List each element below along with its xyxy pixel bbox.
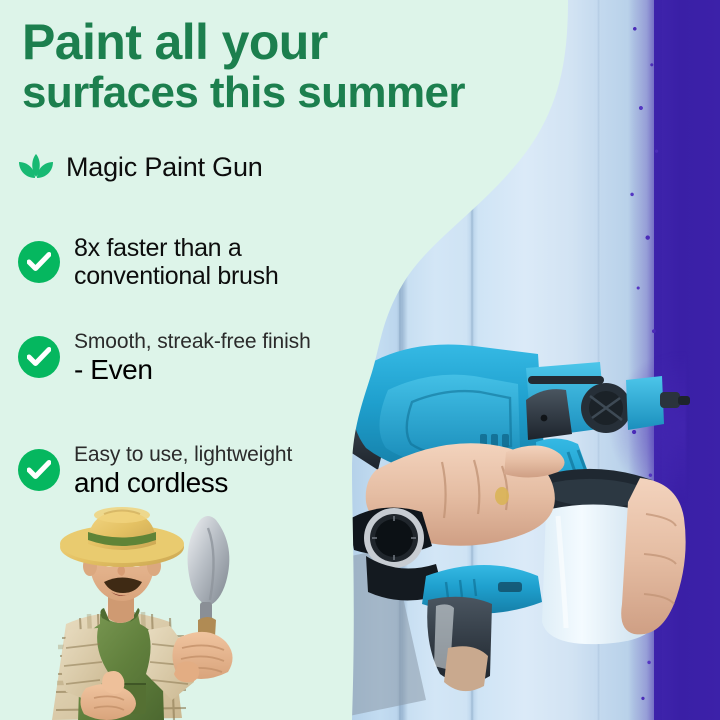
advertisement-canvas: Paint all your surfaces this summer Magi… [0,0,720,720]
feature-2-line-2: - Even [74,354,311,385]
feature-3-line-2: and cordless [74,467,292,498]
feature-3-line-1: Easy to use, lightweight [74,443,292,467]
feature-item-1: 8x faster than a conventional brush [18,234,278,290]
leaf-icon [18,153,54,183]
feature-item-3: Easy to use, lightweight and cordless [18,443,292,498]
page-title: Paint all your surfaces this summer [22,18,465,114]
brand-row: Magic Paint Gun [18,152,263,183]
check-circle-icon [18,449,60,491]
headline-line-1: Paint all your [22,18,465,67]
feature-2-line-1: Smooth, streak-free finish [74,330,311,354]
gardener-mascot [28,502,260,720]
feature-text-2: Smooth, streak-free finish - Even [74,330,311,385]
check-circle-icon [18,241,60,283]
check-circle-icon [18,336,60,378]
brand-name: Magic Paint Gun [66,152,263,183]
feature-1-line-1: 8x faster than a [74,234,278,262]
headline-line-2: surfaces this summer [22,71,465,114]
feature-text-3: Easy to use, lightweight and cordless [74,443,292,498]
feature-1-line-2: conventional brush [74,262,278,290]
feature-text-1: 8x faster than a conventional brush [74,234,278,290]
feature-item-2: Smooth, streak-free finish - Even [18,330,311,385]
